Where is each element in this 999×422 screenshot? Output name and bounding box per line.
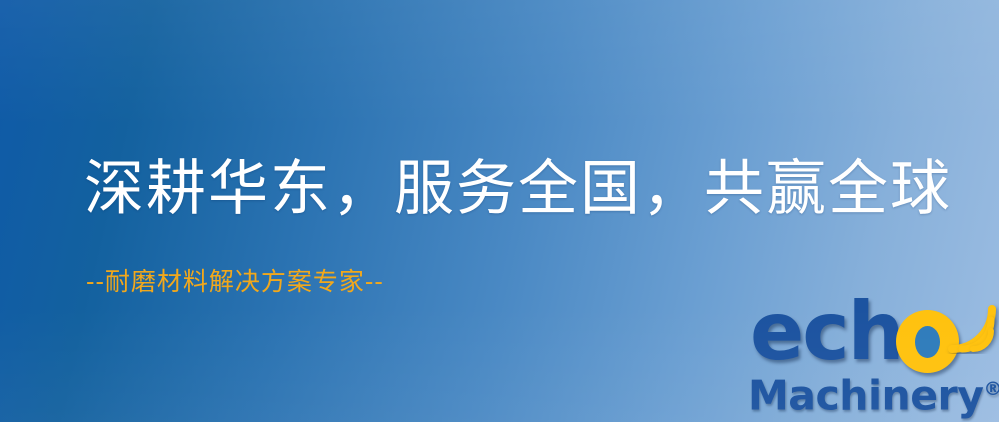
echo-wave-icon — [938, 292, 999, 354]
logo-letter-o-group — [896, 310, 999, 374]
logo-tagline: Machinery® — [748, 366, 999, 419]
echo-machinery-logo[interactable]: ech Machinery® — [748, 296, 999, 422]
logo-letter-o-counter — [915, 326, 940, 358]
logo-text-machinery: Machinery — [748, 372, 983, 420]
banner-headline: 深耕华东，服务全国，共赢全球 — [84, 152, 952, 226]
hero-banner: 深耕华东，服务全国，共赢全球 --耐磨材料解决方案专家-- ech Machin — [0, 0, 999, 422]
banner-subtitle: --耐磨材料解决方案专家-- — [86, 266, 384, 298]
logo-wordmark: ech — [748, 296, 999, 374]
registered-trademark-icon: ® — [983, 378, 999, 400]
logo-text-ech: ech — [750, 292, 903, 372]
